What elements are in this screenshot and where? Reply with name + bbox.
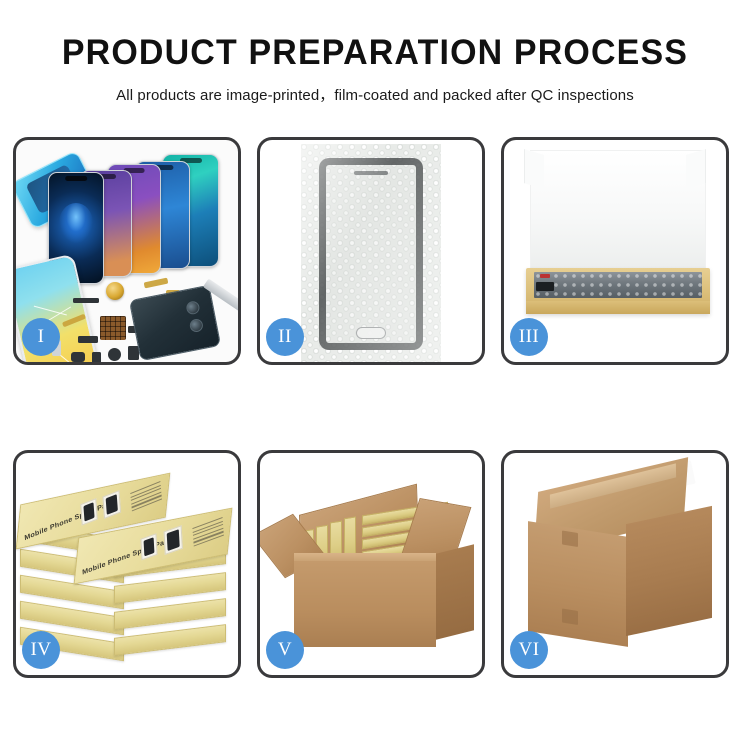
step-2-illustration: II [260, 140, 482, 362]
step-3-illustration: III [504, 140, 726, 362]
screen-frame-icon [319, 158, 423, 350]
step-badge-6: VI [510, 631, 548, 669]
step-4-illustration: Mobile Phone Spare Parts Mobile Phone Sp… [16, 453, 238, 675]
bubble-wrapped-screen-icon [301, 144, 441, 362]
carton-seam-patch [562, 530, 578, 547]
step-badge-1: I [22, 318, 60, 356]
kraft-box-tray-icon [526, 268, 710, 314]
flex-cable-icon [144, 278, 169, 289]
earpiece-icon [354, 171, 388, 175]
foam-flap-right [686, 149, 706, 189]
camera-lens-icon [185, 300, 200, 315]
carton-side-face [436, 544, 474, 639]
home-button-slot-icon [356, 327, 386, 339]
process-steps-grid: I II [13, 137, 737, 678]
foam-flap-left [524, 149, 544, 189]
step-1-illustration: I [16, 140, 238, 362]
small-part [78, 336, 98, 343]
process-step-panel-6: VI [501, 450, 729, 678]
process-step-panel-3: III [501, 137, 729, 365]
small-part [92, 352, 101, 362]
phone-backplate-icon [129, 285, 221, 362]
phone-notch [65, 176, 87, 181]
page-subtitle: All products are image-printed，film-coat… [0, 84, 750, 105]
process-step-panel-4: Mobile Phone Spare Parts Mobile Phone Sp… [13, 450, 241, 678]
step-badge-2: II [266, 318, 304, 356]
page-header: PRODUCT PREPARATION PROCESS All products… [0, 0, 750, 105]
packed-screen-icon [534, 272, 702, 298]
page-title: PRODUCT PREPARATION PROCESS [11, 34, 739, 73]
box-edge [114, 624, 226, 656]
small-part [71, 352, 85, 362]
chip-array-icon [100, 316, 126, 340]
process-step-panel-1: I [13, 137, 241, 365]
small-part [73, 298, 99, 303]
camera-lens-icon [189, 318, 204, 333]
carton-front-face [528, 521, 628, 647]
step-6-illustration: VI [504, 453, 726, 675]
step-badge-5: V [266, 631, 304, 669]
small-part [108, 348, 121, 361]
step-5-illustration: V [260, 453, 482, 675]
process-step-panel-2: II [257, 137, 485, 365]
connector-chip-icon [536, 282, 554, 291]
carton-right-face [626, 506, 712, 636]
copper-coil-icon [106, 282, 124, 300]
kraft-box-rim [526, 301, 710, 314]
carton-front-face [294, 561, 436, 647]
jellyfish-wallpaper-icon [59, 203, 93, 243]
carton-seam-patch [562, 608, 578, 625]
foam-insert-icon [530, 150, 706, 272]
step-badge-3: III [510, 318, 548, 356]
red-label-mark [540, 274, 550, 278]
step-badge-4: IV [22, 631, 60, 669]
process-step-panel-5: V [257, 450, 485, 678]
